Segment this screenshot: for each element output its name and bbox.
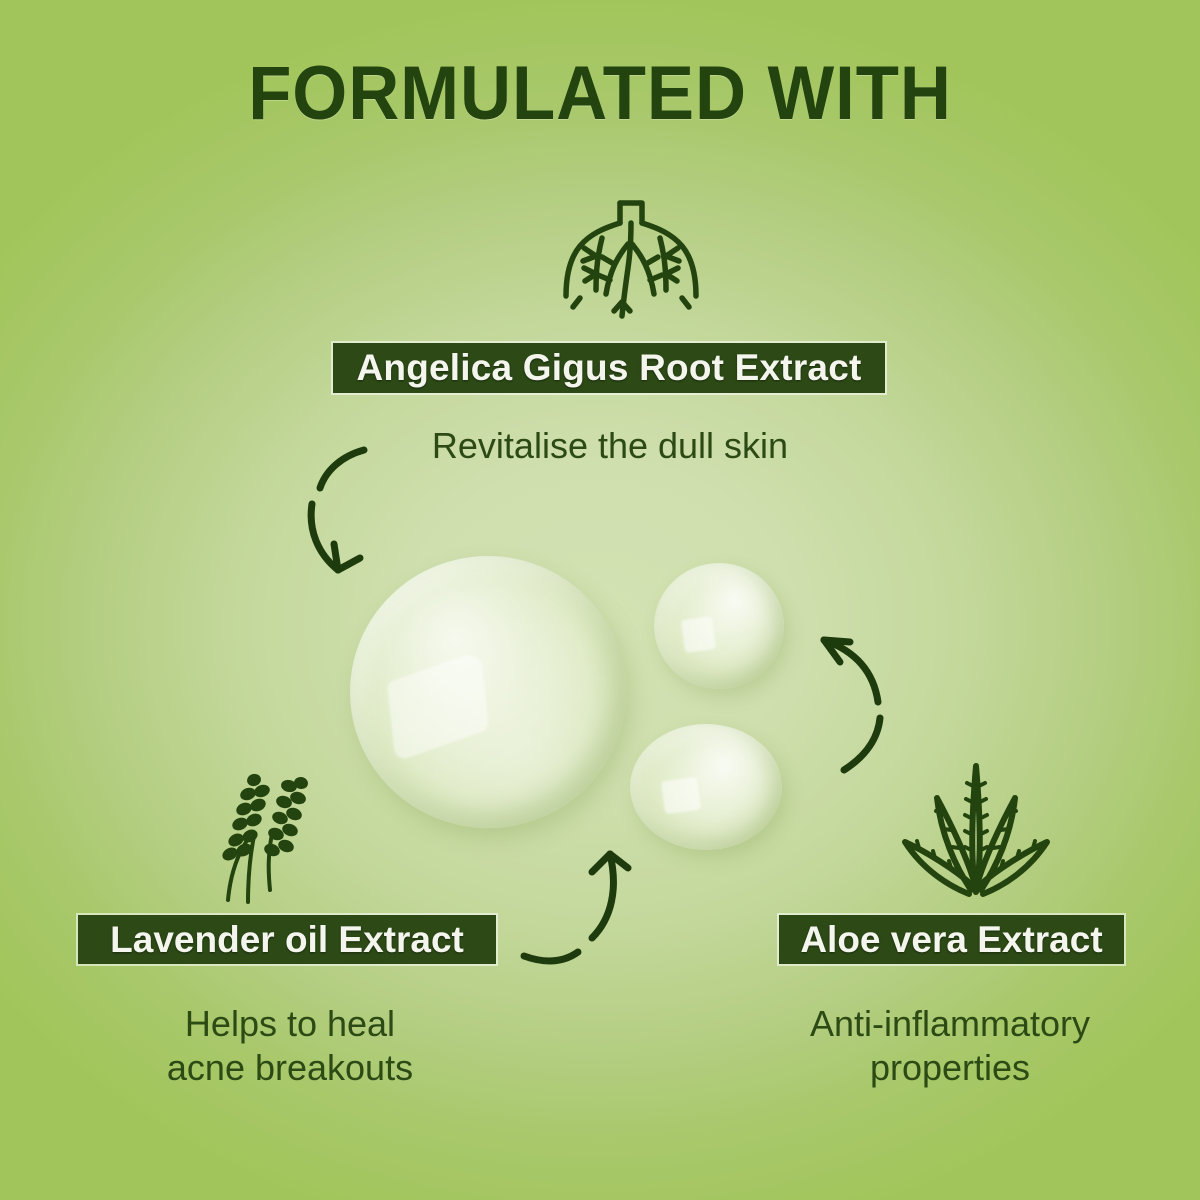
description-lavender: Helps to heal acne breakouts: [60, 1002, 520, 1090]
gel-droplet-icon: [630, 724, 782, 850]
formulated-with-infographic: FORMULATED WITH: [0, 0, 1200, 1200]
badge-angelica-label: Angelica Gigus Root Extract: [357, 347, 862, 389]
badge-aloe-label: Aloe vera Extract: [800, 919, 1102, 961]
lavender-icon: [196, 762, 328, 904]
gel-droplet-icon: [654, 563, 784, 689]
page-title: FORMULATED WITH: [42, 56, 1158, 132]
badge-lavender-label: Lavender oil Extract: [110, 919, 464, 961]
gel-highlight: [387, 650, 489, 762]
gel-highlight: [680, 616, 715, 653]
curved-arrow-up-icon: [498, 828, 668, 978]
description-aloe: Anti-inflammatory properties: [740, 1002, 1160, 1090]
badge-angelica[interactable]: Angelica Gigus Root Extract: [333, 343, 885, 393]
badge-aloe[interactable]: Aloe vera Extract: [779, 915, 1124, 964]
root-icon: [552, 198, 710, 326]
gel-highlight: [661, 777, 702, 815]
curved-arrow-down-icon: [286, 430, 416, 600]
gel-droplet-icon: [350, 556, 626, 828]
badge-lavender[interactable]: Lavender oil Extract: [78, 915, 496, 964]
aloe-icon: [893, 758, 1059, 908]
